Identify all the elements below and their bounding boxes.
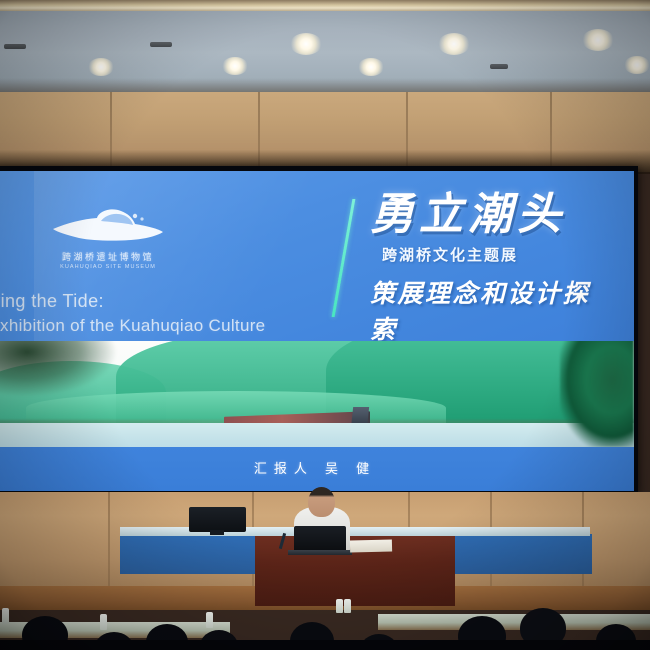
desk-panel-right: [452, 534, 592, 574]
tree-branch-left: [0, 341, 118, 397]
wall-seam: [108, 492, 110, 600]
downlight-7: [624, 56, 650, 74]
desk-papers: [350, 539, 392, 552]
ceiling-vent-right: [490, 64, 508, 69]
desk-panel-left: [120, 534, 260, 574]
downlight-2: [222, 57, 248, 75]
slide-landscape-photo: [0, 341, 634, 449]
water-bottle-2: [100, 614, 107, 630]
ceiling-wood-trim: [0, 0, 650, 11]
chinese-third-line: 策展理念和设计探索: [370, 274, 616, 346]
downlight-3: [290, 33, 322, 55]
chinese-main-title: 勇立潮头: [370, 193, 616, 237]
chinese-subtitle: 跨湖桥文化主题展: [382, 244, 616, 265]
presenter-laptop[interactable]: [294, 526, 346, 552]
foreground-shadow: [0, 640, 650, 650]
presenter-head: [308, 487, 335, 517]
ceiling-vent-mid: [150, 42, 172, 47]
downlight-4: [358, 58, 384, 76]
downlight-6: [582, 29, 614, 51]
tree-right: [560, 341, 634, 447]
downlight-5: [438, 33, 470, 55]
water-bottle-4: [336, 599, 343, 613]
boat-logo-icon: [49, 203, 167, 249]
laptop-base: [288, 550, 352, 555]
downlight-1: [88, 58, 114, 76]
presentation-screen[interactable]: 跨湖桥遗址博物馆 KUAHUQIAO SITE MUSEUM Braving t…: [0, 171, 634, 491]
water-bottle-5: [344, 599, 351, 613]
water-bottle-1: [2, 608, 9, 624]
museum-name-en: KUAHUQIAO SITE MUSEUM: [38, 264, 178, 270]
english-title-line1: Braving the Tide:: [0, 288, 352, 314]
presenter-credit: 汇报人 吴 健: [0, 458, 634, 477]
museum-logo: 跨湖桥遗址博物馆 KUAHUQIAO SITE MUSEUM: [38, 203, 178, 270]
lake-water: [0, 423, 634, 449]
slide-english-title: Braving the Tide: An Exhibition of the K…: [0, 288, 352, 339]
desk-monitor[interactable]: [189, 507, 246, 532]
water-bottle-3: [206, 612, 213, 628]
monitor-stand: [210, 530, 224, 535]
ceiling-vent-left: [4, 44, 26, 49]
museum-name-cn: 跨湖桥遗址博物馆: [38, 250, 178, 263]
english-title-line2: An Exhibition of the Kuahuqiao Culture: [0, 314, 352, 339]
conference-hall-photo: 跨湖桥遗址博物馆 KUAHUQIAO SITE MUSEUM Braving t…: [0, 0, 650, 650]
slide-chinese-title: 勇立潮头 跨湖桥文化主题展 策展理念和设计探索: [348, 193, 616, 346]
